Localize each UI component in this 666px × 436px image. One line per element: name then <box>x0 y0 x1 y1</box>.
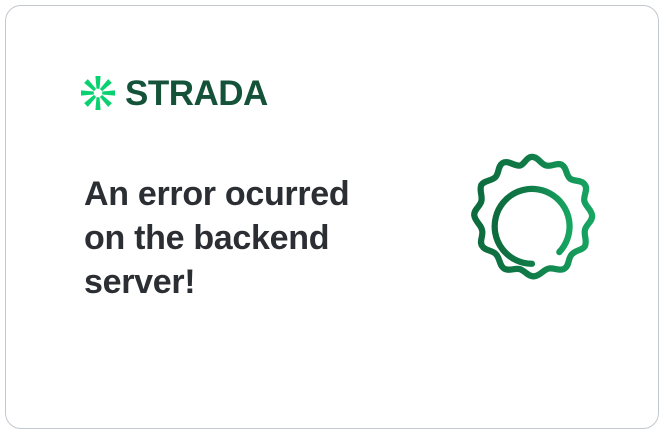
gear-cog-icon <box>454 146 610 302</box>
strada-logo-mark <box>80 75 116 111</box>
gear-outer-teeth <box>474 157 592 276</box>
error-card: STRADA An error ocurred on the backend s… <box>5 5 659 429</box>
gear-inner-arc <box>495 189 570 264</box>
error-message-text: An error ocurred on the backend server! <box>84 172 384 304</box>
strada-wordmark: STRADA <box>125 76 268 111</box>
brand-lockup: STRADA <box>80 75 268 111</box>
